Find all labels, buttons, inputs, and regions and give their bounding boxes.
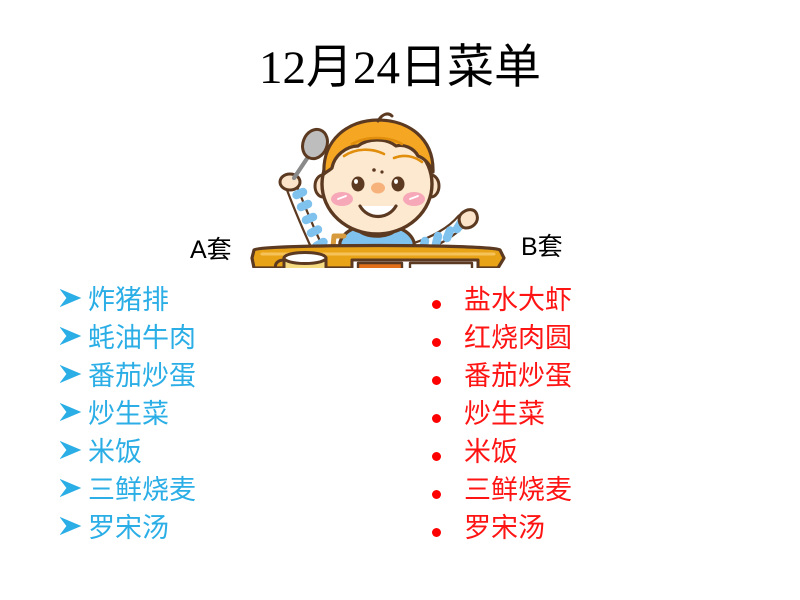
list-item: 番茄炒蛋 <box>60 357 196 395</box>
arrow-bullet-icon <box>60 433 88 459</box>
set-b-menu-list: 盐水大虾 红烧肉圆 番茄炒蛋 炒生菜 米饭 三鲜烧麦 罗宋汤 <box>432 281 572 547</box>
dot-bullet-icon <box>432 515 464 537</box>
dot-bullet-icon <box>432 363 464 385</box>
dot-bullet-icon <box>432 287 464 309</box>
list-item: 炒生菜 <box>60 395 196 433</box>
arrow-bullet-icon <box>60 509 88 535</box>
set-a-menu-list: 炸猪排 蚝油牛肉 番茄炒蛋 炒生菜 米饭 <box>60 281 196 547</box>
dish-name: 盐水大虾 <box>464 281 572 319</box>
dot-bullet-icon <box>432 325 464 347</box>
dot-bullet-icon <box>432 477 464 499</box>
list-item: 罗宋汤 <box>432 509 572 547</box>
list-item: 番茄炒蛋 <box>432 357 572 395</box>
set-a-label: A套 <box>190 230 232 266</box>
list-item: 三鲜烧麦 <box>60 471 196 509</box>
arrow-bullet-icon <box>60 395 88 421</box>
list-item: 蚝油牛肉 <box>60 319 196 357</box>
dish-name: 米饭 <box>464 433 518 471</box>
arrow-bullet-icon <box>60 357 88 383</box>
dish-name: 蚝油牛肉 <box>88 319 196 357</box>
list-item: 红烧肉圆 <box>432 319 572 357</box>
list-item: 炸猪排 <box>60 281 196 319</box>
arrow-bullet-icon <box>60 471 88 497</box>
dish-name: 三鲜烧麦 <box>88 471 196 509</box>
arrow-bullet-icon <box>60 281 88 307</box>
list-item: 米饭 <box>432 433 572 471</box>
arrow-bullet-icon <box>60 319 88 345</box>
list-item: 三鲜烧麦 <box>432 471 572 509</box>
list-item: 米饭 <box>60 433 196 471</box>
dish-name: 番茄炒蛋 <box>88 357 196 395</box>
page-title: 12月24日菜单 <box>0 44 800 93</box>
boy-eating-at-table-illustration <box>248 108 516 268</box>
dish-name: 番茄炒蛋 <box>464 357 572 395</box>
dot-bullet-icon <box>432 439 464 461</box>
list-item: 盐水大虾 <box>432 281 572 319</box>
dish-name: 炒生菜 <box>464 395 545 433</box>
set-b-label: B套 <box>521 227 563 263</box>
dish-name: 三鲜烧麦 <box>464 471 572 509</box>
dish-name: 红烧肉圆 <box>464 319 572 357</box>
dish-name: 米饭 <box>88 433 142 471</box>
dish-name: 罗宋汤 <box>464 509 545 547</box>
dish-name: 炒生菜 <box>88 395 169 433</box>
list-item: 炒生菜 <box>432 395 572 433</box>
dish-name: 炸猪排 <box>88 281 169 319</box>
dot-bullet-icon <box>432 401 464 423</box>
list-item: 罗宋汤 <box>60 509 196 547</box>
dish-name: 罗宋汤 <box>88 509 169 547</box>
